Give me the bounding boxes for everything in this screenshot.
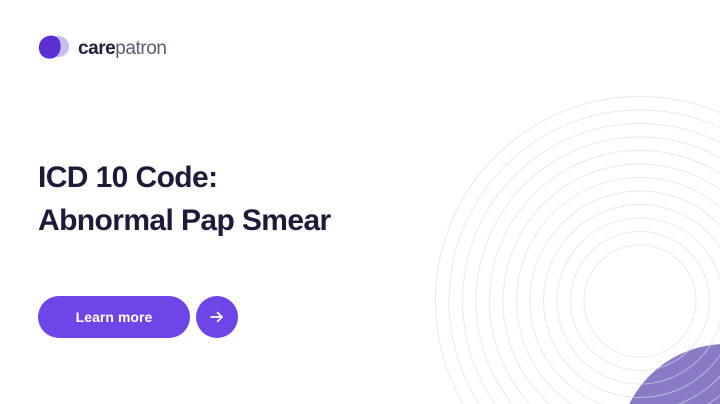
arrow-right-icon [208,308,226,326]
learn-more-arrow-button[interactable] [196,296,238,338]
carepatron-logo-mark [38,34,69,62]
page-title-line-1: ICD 10 Code: [38,157,458,200]
carepatron-logo[interactable]: carepatron [38,33,166,63]
cta-group: Learn more [38,296,238,338]
page-title: ICD 10 Code: Abnormal Pap Smear [38,157,458,242]
hero-banner: carepatron ICD 10 Code: Abnormal Pap Sme… [0,0,720,404]
learn-more-button[interactable]: Learn more [38,296,190,338]
page-title-line-2: Abnormal Pap Smear [38,200,458,243]
concentric-rings-overlay [436,97,720,404]
wordmark-patron: patron [115,39,166,58]
purple-blob [618,344,720,404]
wordmark-care: care [78,39,115,58]
carepatron-wordmark: carepatron [78,39,166,58]
concentric-rings [436,97,720,404]
